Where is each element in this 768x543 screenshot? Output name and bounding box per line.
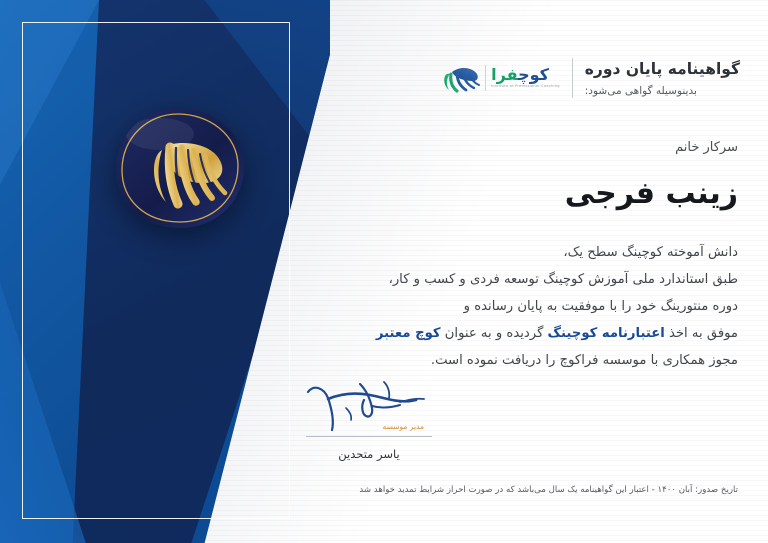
certificate-header: گواهینامه پایان دوره بدینوسیله گواهی می‌… [440,58,740,98]
body-line-4-prefix: موفق به اخذ [665,326,738,341]
recipient-name: زینب فرجی [565,176,738,211]
brand-wordmark: کوچفرا Institute of Professional Coachin… [491,67,560,89]
body-line-3: دوره منتورینگ خود را با موفقیت به پایان … [318,294,738,321]
page-title: گواهینامه پایان دوره [585,59,740,80]
brand-lockup: کوچفرا Institute of Professional Coachin… [440,63,560,93]
brand-name: کوچفرا [491,67,549,83]
body-line-5: مجوز همکاری با موسسه فراکوچ را دریافت نم… [318,348,738,375]
certificate-subtitle: بدینوسیله گواهی می‌شود: [585,85,740,97]
gold-wing-emblem [112,104,248,232]
signature-name: یاسر متحدین [300,447,438,461]
signature-role: مدیر موسسه [383,422,424,431]
farakooch-wing-logo-icon [440,63,480,93]
title-block: گواهینامه پایان دوره بدینوسیله گواهی می‌… [585,59,740,97]
brand-name-green: فرا [491,65,518,84]
body-line-2: طبق استاندارد ملی آموزش کوچینگ توسعه فرد… [318,267,738,294]
certificate-content: گواهینامه پایان دوره بدینوسیله گواهی می‌… [300,0,768,543]
brand-divider [485,65,486,91]
brand-tagline: Institute of Professional Coaching [491,85,560,89]
credential-highlight: اعتبارنامه کوچینگ [548,326,665,341]
footer-note: تاریخ صدور: آبان ۱۴۰۰ - اعتبار این گواهی… [318,485,738,495]
certificate-page: گواهینامه پایان دوره بدینوسیله گواهی می‌… [0,0,768,543]
body-line-4-middle: گردیده و به عنوان [441,326,548,341]
recipient-salutation: سرکار خانم [675,140,738,155]
signature-rule [306,436,432,437]
body-line-1: دانش آموخته کوچینگ سطح یک، [318,240,738,267]
signature-block: مدیر موسسه یاسر متحدین [300,378,438,461]
body-line-4: موفق به اخذ اعتبارنامه کوچینگ گردیده و ب… [318,321,738,348]
header-divider [572,58,573,98]
certificate-body: دانش آموخته کوچینگ سطح یک، طبق استاندارد… [318,240,738,375]
title-highlight: کوچ معتبر [376,326,441,341]
brand-name-blue: کوچ [518,65,549,84]
blue-decorative-panel [0,0,330,543]
